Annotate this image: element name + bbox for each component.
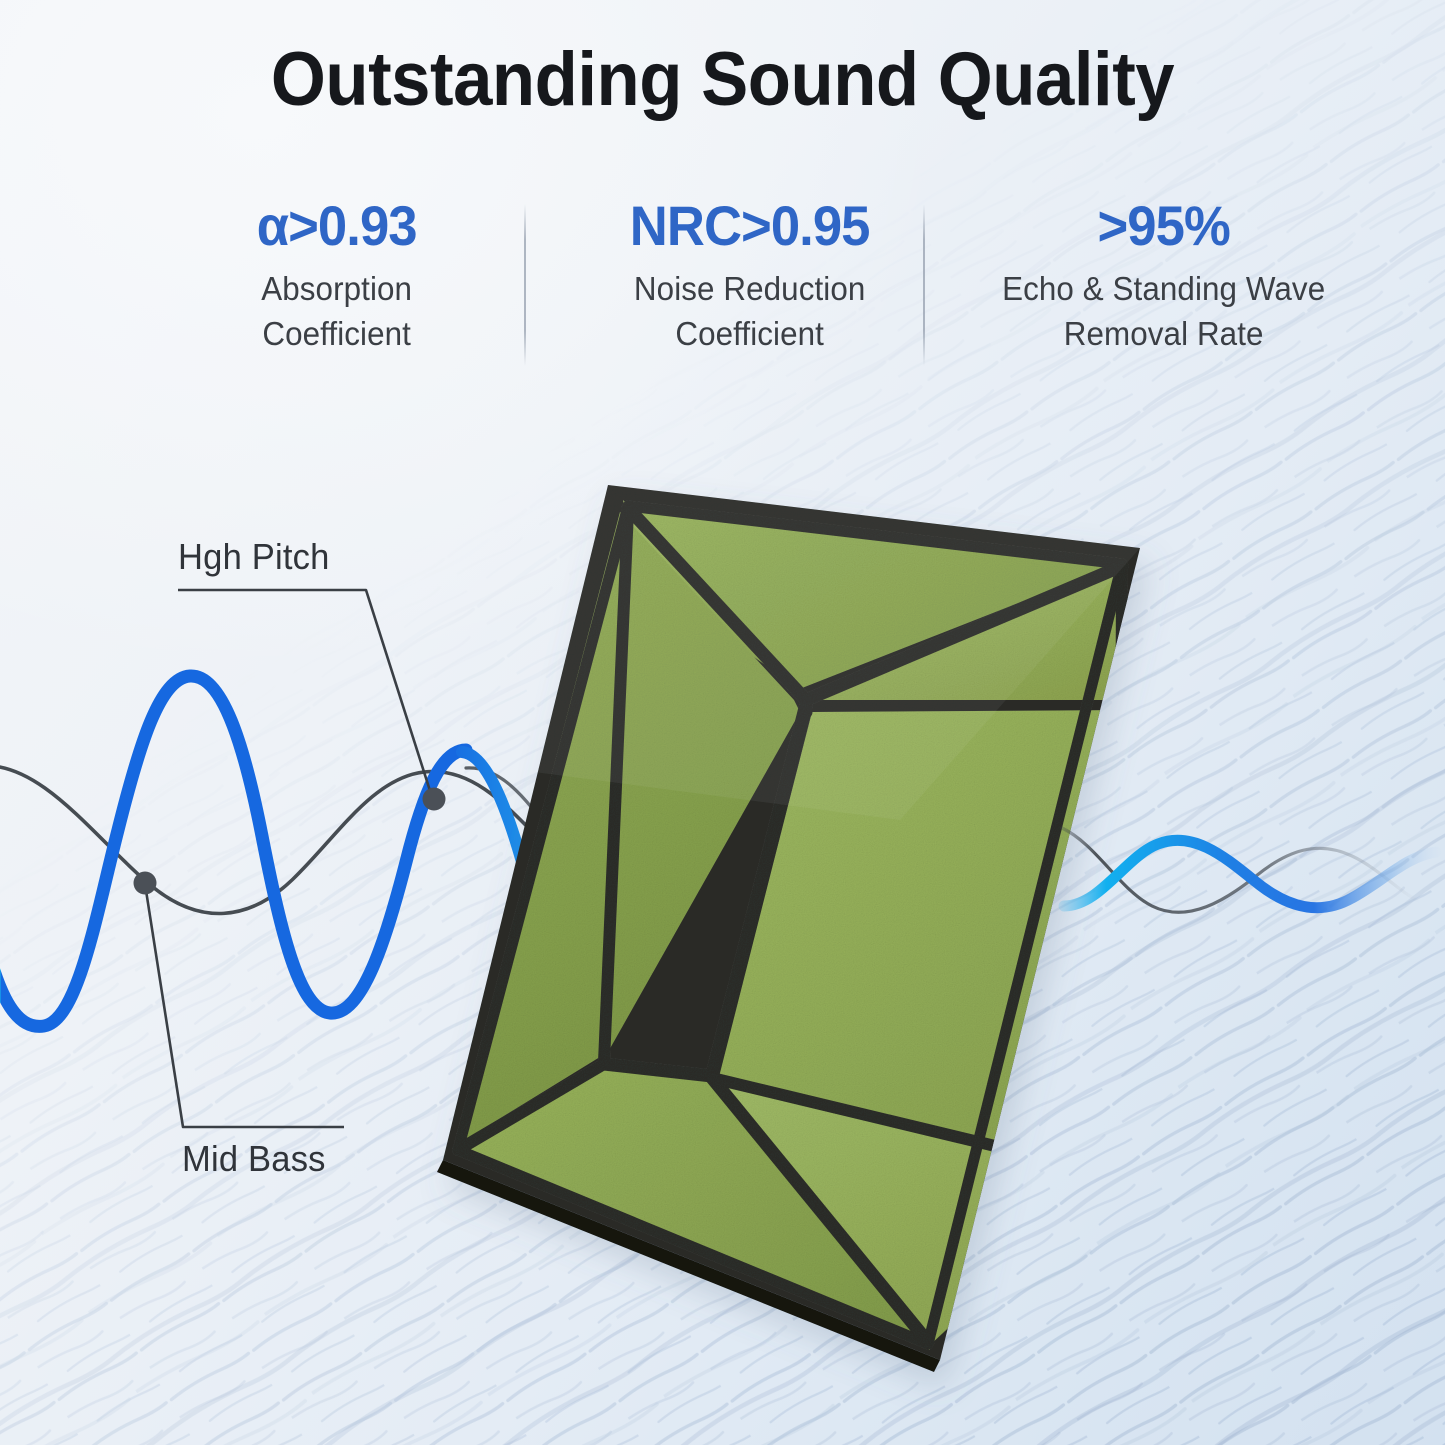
high-pitch-wave-right bbox=[1064, 840, 1436, 907]
high-pitch-wave-left bbox=[0, 676, 466, 1026]
acoustic-diagram bbox=[0, 0, 1445, 1445]
infographic-canvas: Outstanding Sound Quality α>0.93 Absorpt… bbox=[0, 0, 1445, 1445]
high-pitch-anchor-dot bbox=[423, 788, 446, 811]
mid-bass-anchor-dot bbox=[134, 872, 157, 895]
callout-leaders bbox=[134, 590, 446, 1127]
triangular-acoustic-panel bbox=[400, 460, 1160, 1380]
wave-group-right bbox=[1062, 828, 1436, 912]
mid-bass-callout-label: Mid Bass bbox=[182, 1138, 326, 1180]
high-pitch-callout-label: Hgh Pitch bbox=[178, 536, 330, 578]
